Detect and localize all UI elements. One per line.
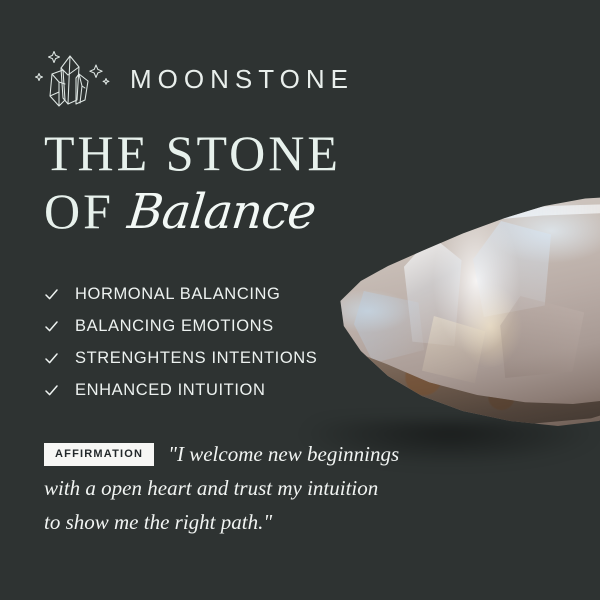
check-icon [44,351,59,366]
stone-facet [422,316,488,386]
benefit-label: BALANCING EMOTIONS [75,317,274,336]
stone-facet [473,221,551,317]
crystal-cluster-icon [30,48,112,110]
affirmation-block: AFFIRMATION "I welcome new beginnings wi… [44,440,474,537]
stone-facet [354,291,424,363]
check-icon [44,287,59,302]
list-item: HORMONAL BALANCING [44,278,317,310]
check-icon [44,383,59,398]
benefits-list: HORMONAL BALANCING BALANCING EMOTIONS ST… [44,278,317,406]
poster-canvas: MOONSTONE THE STONE OF Balance HORMONAL … [0,0,600,600]
brand-logo: MOONSTONE [30,48,354,110]
headline-line-1: THE STONE [44,128,464,178]
affirmation-line-2: with a open heart and trust my intuition [44,474,474,504]
stone-facet [402,236,462,346]
benefit-label: HORMONAL BALANCING [75,285,280,304]
headline-line-2: OF Balance [44,186,464,236]
brand-wordmark: MOONSTONE [130,66,354,92]
affirmation-line-1: "I welcome new beginnings [168,440,399,470]
affirmation-first-row: AFFIRMATION "I welcome new beginnings [44,440,474,470]
headline-of: OF [44,186,114,236]
benefit-label: STRENGHTENS INTENTIONS [75,349,317,368]
benefit-label: ENHANCED INTUITION [75,381,265,400]
stone-facet [500,296,584,378]
stone-rough-base [334,341,600,431]
check-icon [44,319,59,334]
list-item: STRENGHTENS INTENTIONS [44,342,317,374]
headline-block: THE STONE OF Balance [44,128,464,236]
headline-script-word: Balance [125,188,317,236]
list-item: BALANCING EMOTIONS [44,310,317,342]
affirmation-line-3: to show me the right path." [44,508,474,538]
list-item: ENHANCED INTUITION [44,374,317,406]
affirmation-badge: AFFIRMATION [44,443,154,466]
